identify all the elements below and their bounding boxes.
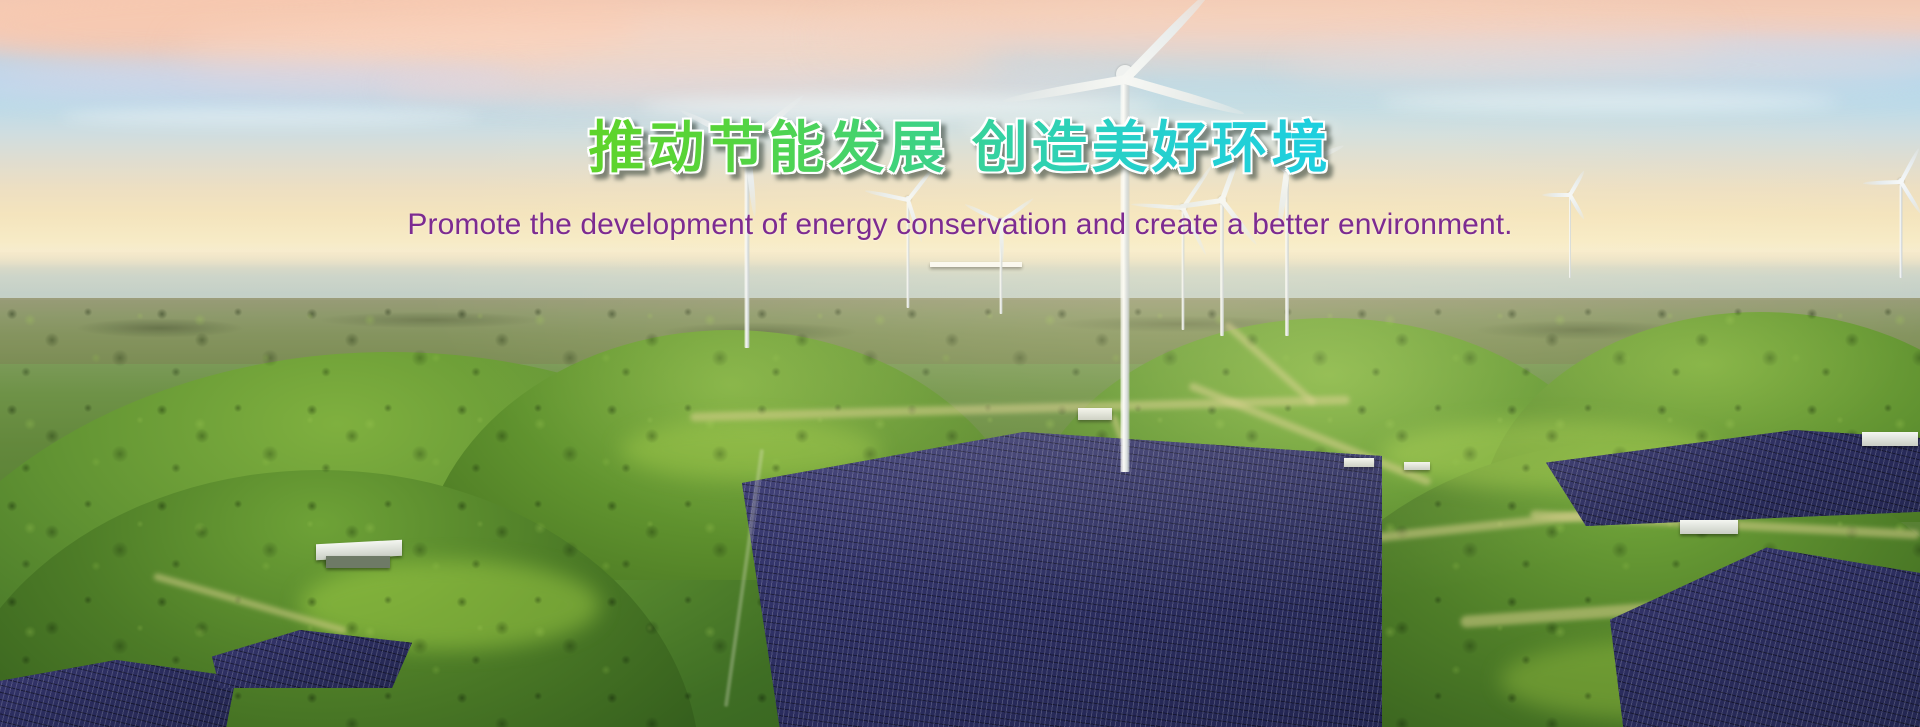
solar-panel-field (742, 432, 1382, 727)
inverter-station (1344, 458, 1374, 467)
inverter-station (1404, 462, 1430, 470)
banner-headline: 推动节能发展 创造美好环境 (0, 118, 1920, 180)
banner-headline-text: 推动节能发展 创造美好环境 (588, 116, 1332, 181)
turbine-blade (1002, 75, 1126, 105)
wind-turbine (1222, 166, 1352, 336)
hero-banner: 推动节能发展 创造美好环境 Promote the development of… (0, 0, 1920, 727)
turbine-blade (1863, 180, 1901, 185)
turbine-blade (1542, 193, 1570, 197)
service-building (1680, 520, 1738, 534)
banner-subtitle: Promote the development of energy conser… (0, 206, 1920, 244)
service-building (1862, 432, 1918, 446)
turbine-blade (1124, 75, 1246, 118)
service-building-wall (326, 556, 390, 568)
